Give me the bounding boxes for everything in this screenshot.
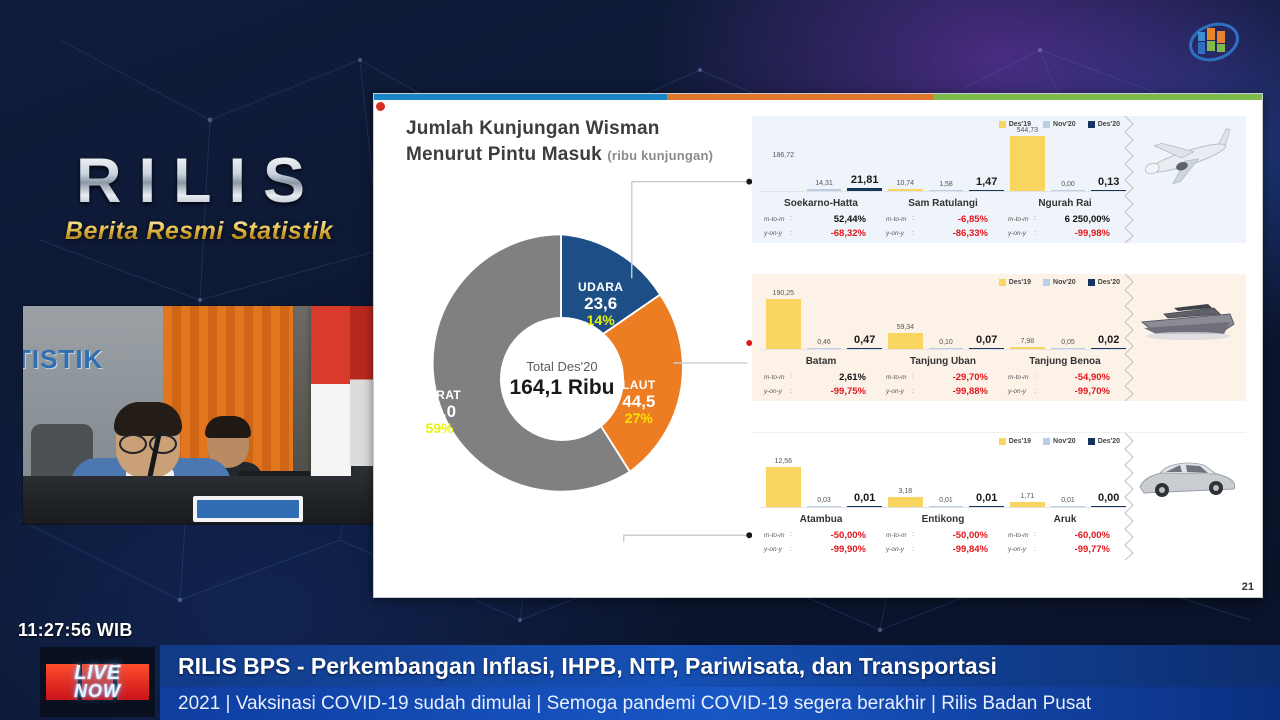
program-logo-title: RILIS xyxy=(24,150,374,213)
stats-batam: m-to-m:2,61% y-on-y:-99,75% xyxy=(764,371,878,400)
bar-group-ngurah-rai: 544,73 0,00 0,13 Ngurah Rai m-to-m:6 250… xyxy=(1004,134,1126,243)
bar-group-entikong: 3,18 0,01 0,01 Entikong m-to-m:-50,00% y… xyxy=(882,451,1004,559)
stat-label-mtm: m-to-m xyxy=(1008,531,1032,541)
donut-label-udara-percent: 14% xyxy=(578,313,623,329)
stat-label-mtm: m-to-m xyxy=(886,531,910,541)
bar-group-batam: 190,25 0,46 0,47 Batam m-to-m:2,61% y-on… xyxy=(760,292,882,401)
bar-value-des19: 1,71 xyxy=(1021,493,1035,500)
bar-value-nov20: 0,01 xyxy=(1061,497,1075,504)
accent-orange xyxy=(667,94,933,100)
stats-soekarno-hatta: m-to-m:52,44% y-on-y:-68,32% xyxy=(764,213,878,242)
accent-blue xyxy=(374,94,667,100)
donut-label-darat-value: 96,0 xyxy=(418,402,461,421)
stat-label-mtm: m-to-m xyxy=(764,531,788,541)
bar-groups-darat: 12,56 0,03 0,01 Atambua m-to-m:-50,00% y… xyxy=(760,451,1126,559)
stats-tanjung-benoa: m-to-m:-54,90% y-on-y:-99,70% xyxy=(1008,371,1122,400)
eyeglasses-icon xyxy=(119,434,177,450)
donut-label-darat-name: DARAT xyxy=(418,389,461,402)
speaker-video-inset: TISTIK xyxy=(22,305,377,525)
stat-label-yoy: y-on-y xyxy=(886,387,910,397)
bar-des19 xyxy=(888,333,923,349)
headline-bar: RILIS BPS - Perkembangan Inflasi, IHPB, … xyxy=(160,645,1280,687)
donut-label-udara: UDARA 23,6 14% xyxy=(578,281,623,329)
donut-center-value: 164,1 Ribu xyxy=(509,376,614,400)
legend-label-des19: Des'19 xyxy=(1009,438,1031,445)
broadcast-clock: 11:27:56 WIB xyxy=(18,620,133,641)
bar-group-label: Batam xyxy=(760,356,882,367)
video-wall-text: TISTIK xyxy=(22,344,103,375)
slide-page-number: 21 xyxy=(1242,581,1254,593)
bar-value-des20: 0,01 xyxy=(854,492,875,504)
stat-value-mtm: -50,00% xyxy=(794,529,878,543)
bar-value-nov20: 0,10 xyxy=(939,339,953,346)
stat-label-yoy: y-on-y xyxy=(764,545,788,555)
stat-label-yoy: y-on-y xyxy=(1008,387,1032,397)
stats-tanjung-uban: m-to-m:-29,70% y-on-y:-99,88% xyxy=(886,371,1000,400)
donut-label-darat-percent: 59% xyxy=(418,421,461,437)
stat-value-mtm: -60,00% xyxy=(1038,529,1122,543)
donut-center: Total Des'20 164,1 Ribu xyxy=(500,317,624,441)
stat-value-yoy: -86,33% xyxy=(916,227,1000,241)
slide-red-dot xyxy=(376,102,385,111)
stat-value-mtm: 6 250,00% xyxy=(1038,213,1122,227)
donut-chart: Total Des'20 164,1 Ribu UDARA 23,6 14% L… xyxy=(402,229,722,529)
legend-label-nov20: Nov'20 xyxy=(1053,121,1076,128)
bar-value-nov20: 0,05 xyxy=(1061,339,1075,346)
indonesia-flag-icon xyxy=(311,306,351,476)
ticker-bar: 2021 | Vaksinasi COVID-19 sudah dimulai … xyxy=(160,687,1280,720)
stat-value-mtm: 2,61% xyxy=(794,371,878,385)
donut-label-laut: LAUT 44,5 27% xyxy=(622,379,656,427)
live-badge-line2: NOW xyxy=(74,683,121,700)
bar-des19 xyxy=(766,299,801,349)
stats-entikong: m-to-m:-50,00% y-on-y:-99,84% xyxy=(886,529,1000,558)
stat-value-mtm: -29,70% xyxy=(916,371,1000,385)
bar-value-des19: 190,25 xyxy=(773,290,794,297)
donut-label-laut-percent: 27% xyxy=(622,411,656,427)
bar-value-des20: 0,47 xyxy=(854,334,875,346)
bar-groups-udara: 186,72 14,31 21,81 Soekarno-Hatta m-to-m… xyxy=(760,134,1126,243)
donut-label-udara-name: UDARA xyxy=(578,281,623,294)
bar-group-label: Atambua xyxy=(760,514,882,525)
stat-value-yoy: -68,32% xyxy=(794,227,878,241)
stat-value-mtm: -54,90% xyxy=(1038,371,1122,385)
legend-item-des20: Des'20 xyxy=(1088,279,1120,286)
bar-value-des20: 0,02 xyxy=(1098,334,1119,346)
program-logo-subtitle: Berita Resmi Statistik xyxy=(24,217,374,246)
bar-group-tanjung-uban: 59,34 0,10 0,07 Tanjung Uban m-to-m:-29,… xyxy=(882,292,1004,401)
stat-label-yoy: y-on-y xyxy=(1008,229,1032,239)
bar-group-label: Ngurah Rai xyxy=(1004,198,1126,209)
boat-icon xyxy=(1134,284,1242,350)
bar-group-label: Sam Ratulangi xyxy=(882,198,1004,209)
slide-title-unit: (ribu kunjungan) xyxy=(607,148,713,163)
bar-des19 xyxy=(766,467,801,507)
bar-group-tanjung-benoa: 7,98 0,05 0,02 Tanjung Benoa m-to-m:-54,… xyxy=(1004,292,1126,401)
stat-value-yoy: -99,88% xyxy=(916,385,1000,399)
zigzag-divider xyxy=(1124,116,1134,243)
legend-label-des19: Des'19 xyxy=(1009,279,1031,286)
legend-item-nov20: Nov'20 xyxy=(1043,438,1076,445)
stat-label-mtm: m-to-m xyxy=(764,215,788,225)
stat-label-yoy: y-on-y xyxy=(1008,545,1032,555)
stats-ngurah-rai: m-to-m:6 250,00% y-on-y:-99,98% xyxy=(1008,213,1122,242)
ticker-text: 2021 | Vaksinasi COVID-19 sudah dimulai … xyxy=(178,693,1091,715)
stat-label-mtm: m-to-m xyxy=(886,373,910,383)
stat-value-yoy: -99,70% xyxy=(1038,385,1122,399)
zigzag-divider xyxy=(1124,274,1134,401)
bar-value-nov20: 1,58 xyxy=(939,181,953,188)
stat-label-mtm: m-to-m xyxy=(886,215,910,225)
donut-label-laut-name: LAUT xyxy=(622,379,656,392)
bar-group-atambua: 12,56 0,03 0,01 Atambua m-to-m:-50,00% y… xyxy=(760,451,882,559)
accent-green xyxy=(933,94,1262,100)
legend-item-des20: Des'20 xyxy=(1088,438,1120,445)
legend-label-des20: Des'20 xyxy=(1098,121,1120,128)
stats-aruk: m-to-m:-60,00% y-on-y:-99,77% xyxy=(1008,529,1122,558)
bar-value-nov20: 0,03 xyxy=(817,497,831,504)
bar-value-des20: 21,81 xyxy=(851,174,879,186)
bar-value-des19: 3,18 xyxy=(899,488,913,495)
bar-value-des20: 0,07 xyxy=(976,334,997,346)
nameplate xyxy=(193,496,303,522)
donut-label-udara-value: 23,6 xyxy=(578,294,623,313)
bar-des19 xyxy=(766,161,801,191)
bar-des19 xyxy=(888,497,923,507)
live-badge-text: LIVE NOW xyxy=(74,664,121,700)
stats-sam-ratulangi: m-to-m:-6,85% y-on-y:-86,33% xyxy=(886,213,1000,242)
legend-label-nov20: Nov'20 xyxy=(1053,438,1076,445)
bar-value-nov20: 14,31 xyxy=(815,180,833,187)
bar-value-des19: 59,34 xyxy=(897,324,915,331)
stat-label-yoy: y-on-y xyxy=(764,229,788,239)
bar-value-des19: 12,56 xyxy=(775,458,793,465)
lower-third: RILIS BPS - Perkembangan Inflasi, IHPB, … xyxy=(0,645,1280,720)
panel-laut: Des'19 Nov'20 Des'20 190,25 0,46 0,47 Ba… xyxy=(752,274,1246,401)
stat-label-yoy: y-on-y xyxy=(764,387,788,397)
legend-item-des20: Des'20 xyxy=(1088,121,1120,128)
slide-title-line1: Jumlah Kunjungan Wisman xyxy=(406,116,713,142)
stat-value-yoy: -99,98% xyxy=(1038,227,1122,241)
donut-center-label: Total Des'20 xyxy=(526,359,597,374)
legend-item-des19: Des'19 xyxy=(999,438,1031,445)
bar-value-des19: 7,98 xyxy=(1021,338,1035,345)
stat-value-yoy: -99,75% xyxy=(794,385,878,399)
bar-group-sam-ratulangi: 10,74 1,58 1,47 Sam Ratulangi m-to-m:-6,… xyxy=(882,134,1004,243)
bar-group-label: Tanjung Benoa xyxy=(1004,356,1126,367)
bar-group-label: Entikong xyxy=(882,514,1004,525)
slide-title: Jumlah Kunjungan Wisman Menurut Pintu Ma… xyxy=(406,116,713,167)
live-now-badge: LIVE NOW xyxy=(40,647,155,717)
stat-value-yoy: -99,84% xyxy=(916,543,1000,557)
bar-value-des19: 544,73 xyxy=(1017,127,1038,134)
stat-value-mtm: 52,44% xyxy=(794,213,878,227)
presentation-slide: Jumlah Kunjungan Wisman Menurut Pintu Ma… xyxy=(373,93,1263,598)
bar-group-soekarno-hatta: 186,72 14,31 21,81 Soekarno-Hatta m-to-m… xyxy=(760,134,882,243)
bar-group-label: Soekarno-Hatta xyxy=(760,198,882,209)
panel-darat: Des'19 Nov'20 Des'20 12,56 0,03 0,01 Ata… xyxy=(752,432,1246,559)
legend-item-nov20: Nov'20 xyxy=(1043,279,1076,286)
stat-value-mtm: -50,00% xyxy=(916,529,1000,543)
stats-atambua: m-to-m:-50,00% y-on-y:-99,90% xyxy=(764,529,878,558)
bar-value-des20: 0,00 xyxy=(1098,492,1119,504)
donut-label-laut-value: 44,5 xyxy=(622,392,656,411)
bar-value-des20: 0,01 xyxy=(976,492,997,504)
bar-des19 xyxy=(1010,136,1045,191)
bar-group-aruk: 1,71 0,01 0,00 Aruk m-to-m:-60,00% y-on-… xyxy=(1004,451,1126,559)
bar-group-label: Tanjung Uban xyxy=(882,356,1004,367)
legend-label-nov20: Nov'20 xyxy=(1053,279,1076,286)
bar-value-nov20: 0,01 xyxy=(939,497,953,504)
stat-value-yoy: -99,90% xyxy=(794,543,878,557)
legend-laut: Des'19 Nov'20 Des'20 xyxy=(999,279,1120,286)
headline-text: RILIS BPS - Perkembangan Inflasi, IHPB, … xyxy=(178,653,997,680)
legend-darat: Des'19 Nov'20 Des'20 xyxy=(999,438,1120,445)
bar-group-label: Aruk xyxy=(1004,514,1126,525)
bar-groups-laut: 190,25 0,46 0,47 Batam m-to-m:2,61% y-on… xyxy=(760,292,1126,401)
bps-logo xyxy=(1186,18,1242,66)
slide-title-line2: Menurut Pintu Masuk xyxy=(406,144,602,165)
legend-label-des20: Des'20 xyxy=(1098,438,1120,445)
stat-label-yoy: y-on-y xyxy=(886,229,910,239)
zigzag-divider xyxy=(1124,433,1134,560)
slide-top-accent-bar xyxy=(374,94,1262,100)
stat-label-mtm: m-to-m xyxy=(1008,373,1032,383)
car-icon xyxy=(1134,443,1242,509)
legend-item-nov20: Nov'20 xyxy=(1043,121,1076,128)
panel-udara: Des'19 Nov'20 Des'20 186,72 14,31 21,81 … xyxy=(752,116,1246,243)
bar-value-des20: 1,47 xyxy=(976,176,997,188)
legend-label-des20: Des'20 xyxy=(1098,279,1120,286)
stat-value-yoy: -99,77% xyxy=(1038,543,1122,557)
stat-label-mtm: m-to-m xyxy=(1008,215,1032,225)
bar-value-nov20: 0,46 xyxy=(817,339,831,346)
stat-value-mtm: -6,85% xyxy=(916,213,1000,227)
bar-value-des19: 10,74 xyxy=(897,180,915,187)
legend-item-des19: Des'19 xyxy=(999,279,1031,286)
bar-value-des19: 186,72 xyxy=(773,152,794,159)
bar-value-des20: 0,13 xyxy=(1098,176,1119,188)
program-logo: RILIS Berita Resmi Statistik xyxy=(24,150,374,246)
donut-label-darat: DARAT 96,0 59% xyxy=(418,389,461,437)
stat-label-mtm: m-to-m xyxy=(764,373,788,383)
stat-label-yoy: y-on-y xyxy=(886,545,910,555)
airplane-icon xyxy=(1134,126,1242,192)
bar-value-nov20: 0,00 xyxy=(1061,181,1075,188)
